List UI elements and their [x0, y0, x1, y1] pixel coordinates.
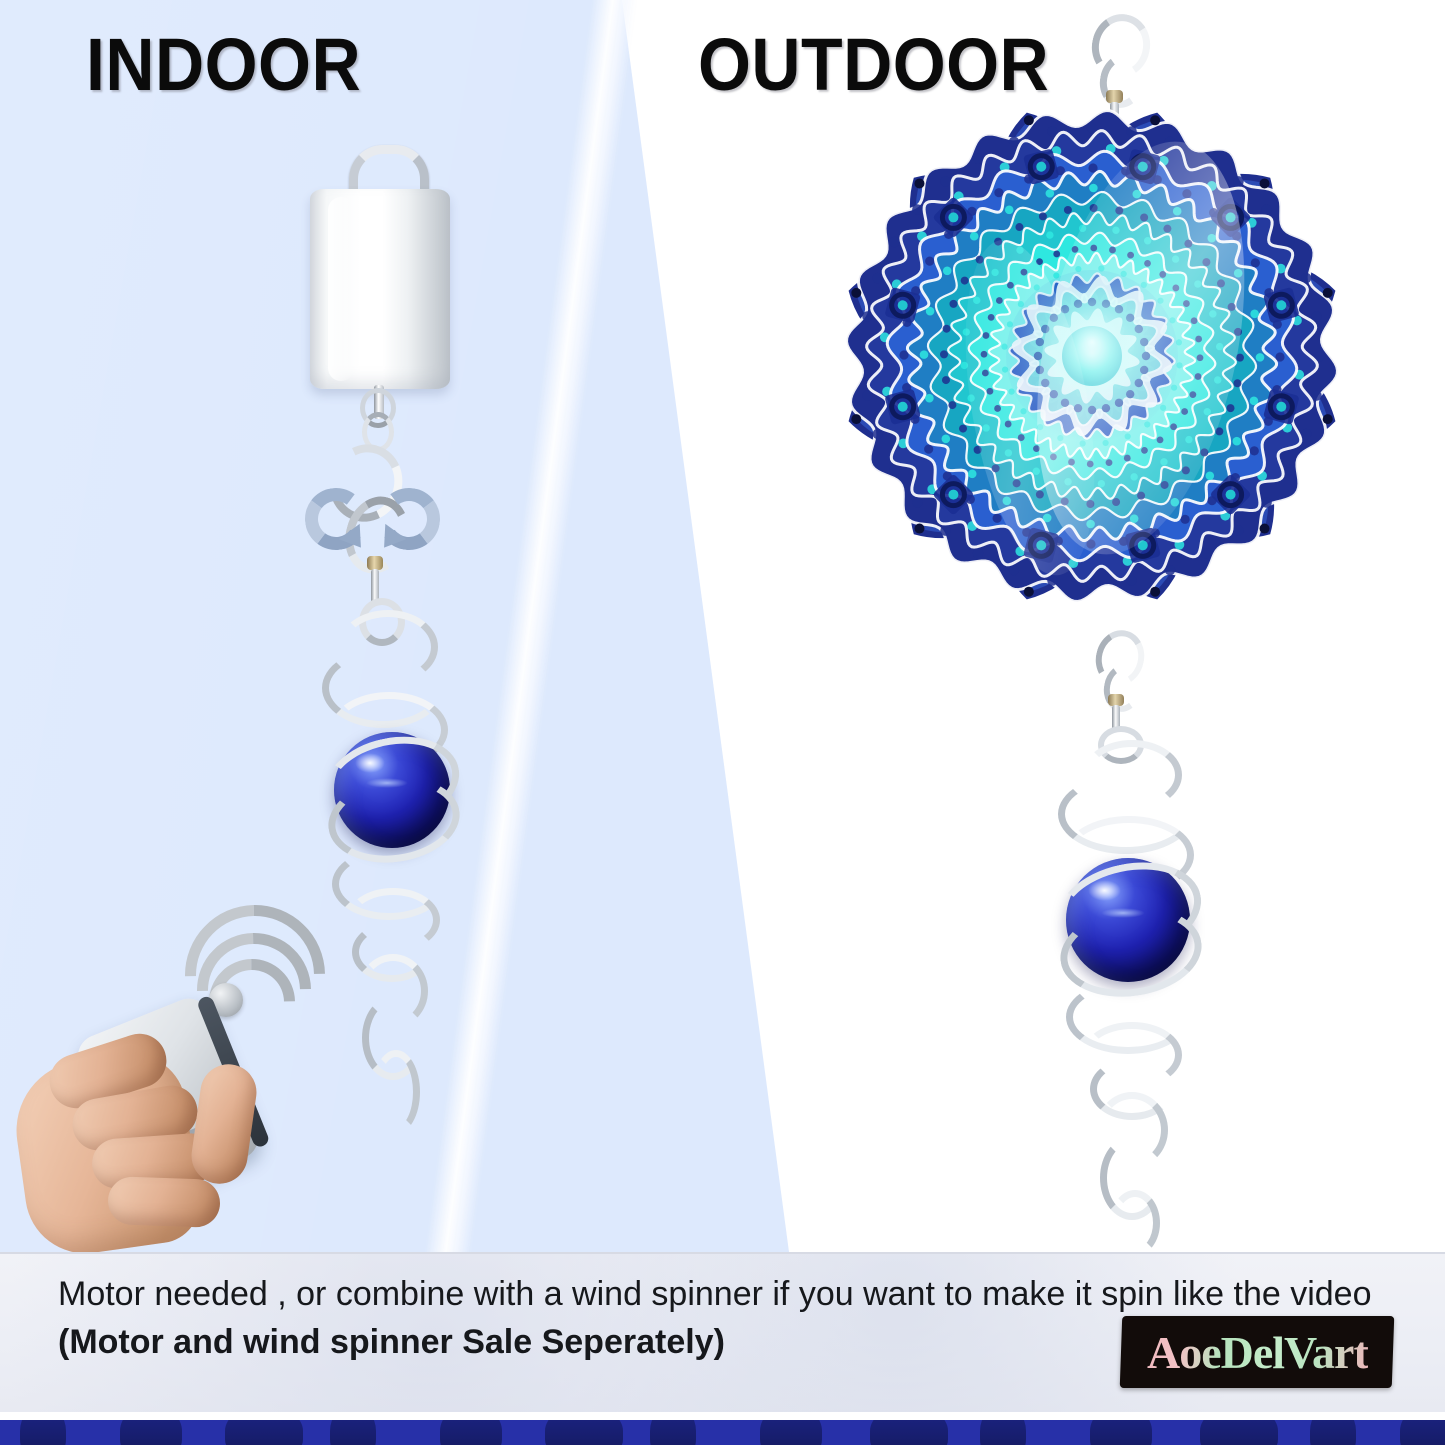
rotation-arrow-left-icon — [301, 484, 371, 554]
band-pattern-shape — [980, 1420, 1026, 1445]
spiral-tail-outdoor — [1038, 740, 1208, 1240]
motor-unit — [300, 145, 460, 395]
band-pattern-shape — [225, 1420, 303, 1445]
band-pattern-shape — [545, 1420, 623, 1445]
brand-logo-text: AoeDelVart — [1147, 1326, 1368, 1379]
caption-bar: Motor needed , or combine with a wind sp… — [0, 1252, 1445, 1412]
band-pattern-shape — [1400, 1420, 1445, 1445]
band-pattern-shape — [330, 1420, 376, 1445]
panel-container — [0, 0, 1445, 1252]
hand-holding-remote — [20, 1000, 310, 1252]
mandala-wind-spinner — [836, 100, 1348, 612]
bottom-blue-band — [0, 1420, 1445, 1445]
motor-body — [310, 189, 450, 389]
band-pattern-shape — [20, 1420, 66, 1445]
brand-logo: AoeDelVart — [1120, 1316, 1395, 1388]
mid-hook-icon — [1092, 630, 1138, 748]
band-pattern-shape — [870, 1420, 948, 1445]
caption-line2-plain: like the video — [1173, 1275, 1371, 1313]
heading-outdoor: OUTDOOR — [698, 22, 1049, 107]
rotation-arrow-right-icon — [374, 484, 444, 554]
product-comparison-image: INDOOR OUTDOOR Motor needed , or combine… — [0, 0, 1445, 1445]
caption-line1: Motor needed , or combine with a wind sp… — [58, 1275, 1164, 1313]
band-pattern-shape — [1090, 1420, 1152, 1445]
band-pattern-shape — [1310, 1420, 1356, 1445]
band-pattern-shape — [440, 1420, 502, 1445]
spiral-tail-indoor — [300, 610, 460, 1120]
caption-line2-bold: (Motor and wind spinner Sale Seperately) — [58, 1323, 725, 1361]
band-pattern-shape — [120, 1420, 182, 1445]
heading-indoor: INDOOR — [86, 22, 361, 107]
band-pattern-shape — [1200, 1420, 1278, 1445]
finger-pinky — [107, 1176, 221, 1228]
band-pattern-shape — [760, 1420, 822, 1445]
band-pattern-shape — [650, 1420, 696, 1445]
